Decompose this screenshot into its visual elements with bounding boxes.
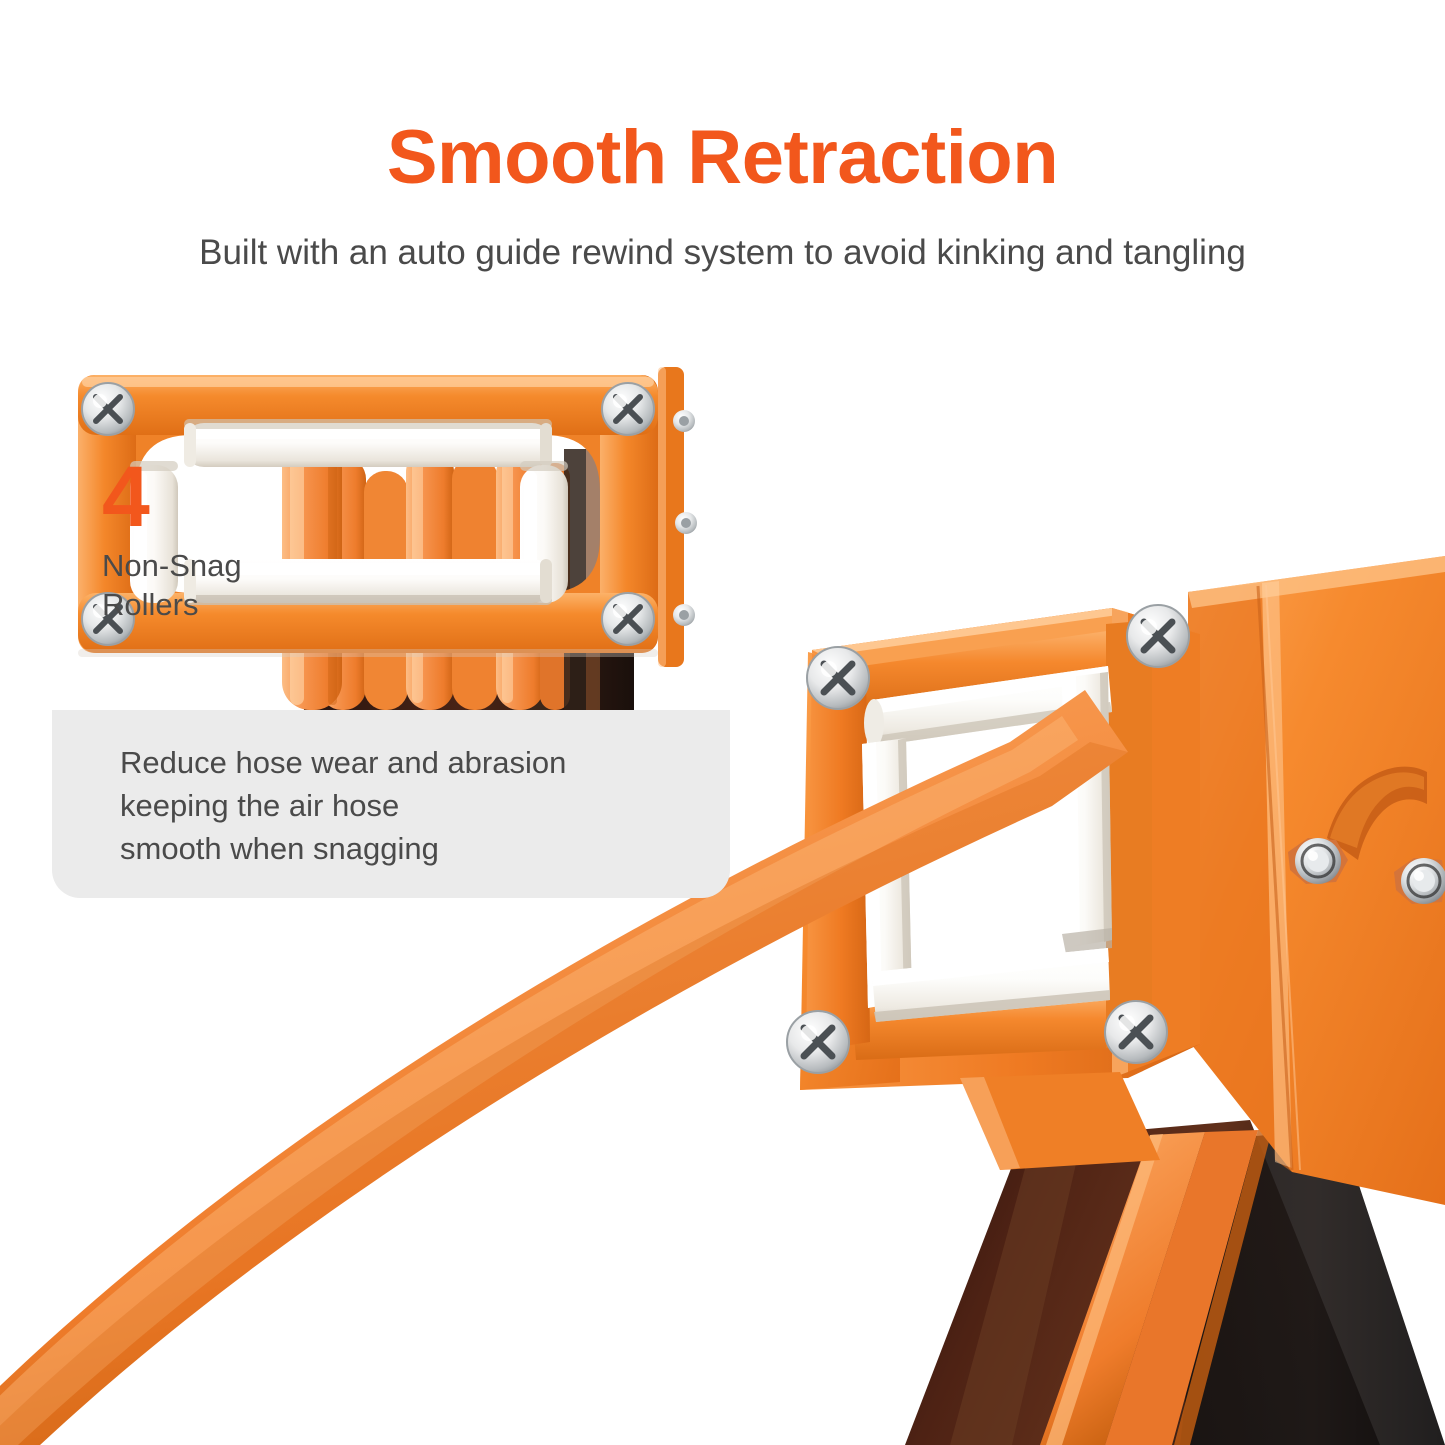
card-footer-panel: Reduce hose wear and abrasion keeping th… [52, 710, 730, 898]
card-footer-text: Reduce hose wear and abrasion keeping th… [120, 742, 566, 870]
coiled-hose-strands [1040, 1130, 1272, 1445]
roller-guide-bracket [800, 608, 1200, 1090]
roller-top [864, 666, 1112, 747]
phillips-screw-top-left [807, 647, 869, 709]
roller-count-stat: 4 Non-Snag Rollers [52, 458, 272, 624]
phillips-screw-top-right [1127, 605, 1189, 667]
hex-bolt-upper [1288, 838, 1348, 884]
page-subtitle: Built with an auto guide rewind system t… [0, 232, 1445, 274]
product-feature-page: Smooth Retraction Built with an auto gui… [0, 0, 1445, 1445]
reel-drum [905, 1120, 1445, 1445]
phillips-screw-bottom-right [1105, 1001, 1167, 1063]
phillips-screw-bottom-left [787, 1011, 849, 1073]
hex-bolt-lower [1394, 858, 1445, 904]
stat-number: 4 [52, 458, 272, 537]
stat-label: Non-Snag Rollers [52, 537, 272, 624]
roller-bottom [872, 948, 1110, 1022]
bracket-stem [960, 1072, 1160, 1170]
reel-side-plate [1188, 556, 1445, 1205]
reel-slot-cutout [1327, 767, 1427, 860]
page-title: Smooth Retraction [0, 120, 1445, 196]
roller-right [1062, 672, 1112, 954]
roller-left [862, 738, 912, 1008]
